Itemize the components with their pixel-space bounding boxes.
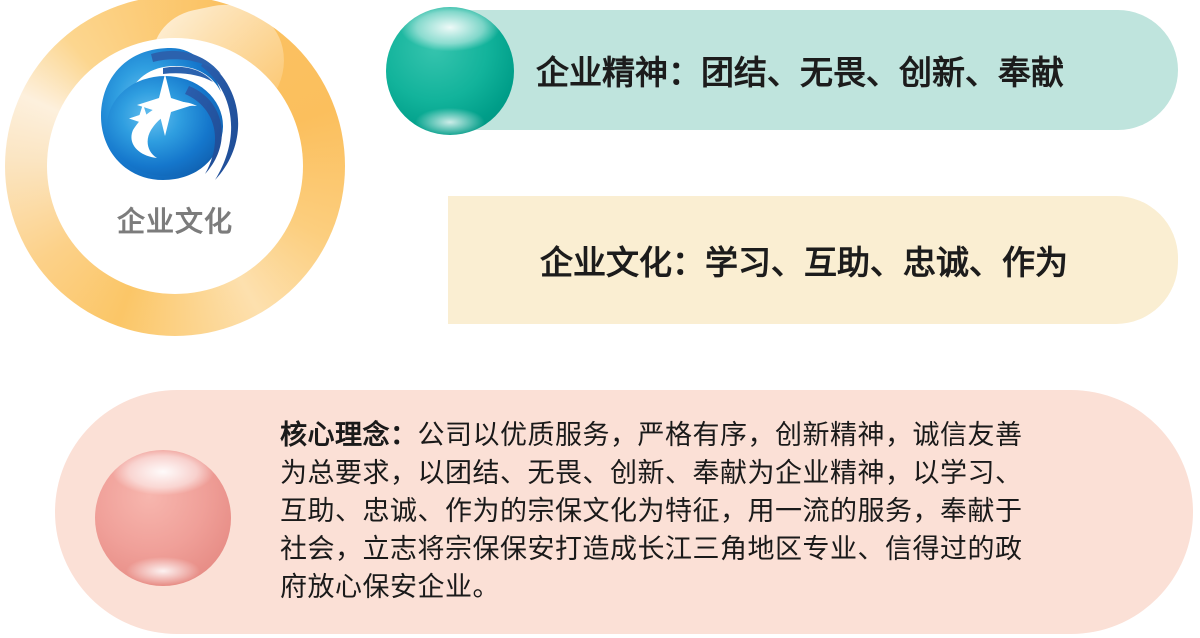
core-line: 互助、忠诚、作为的宗保文化为特征，用一流的服务，奉献于	[280, 493, 1135, 531]
core-line: 社会，立志将宗保保安打造成长江三角地区专业、信得过的政	[280, 531, 1135, 569]
pink-sphere-icon	[95, 450, 231, 586]
company-logo-icon	[93, 34, 257, 202]
banner-text: 企业精神：团结、无畏、创新、奉献	[536, 46, 1064, 94]
core-philosophy-text: 核心理念：公司以优质服务，严格有序，创新精神，诚信友善 为总要求，以团结、无畏、…	[280, 417, 1135, 607]
orange-sphere-icon	[386, 193, 520, 327]
core-line-text: 公司以优质服务，严格有序，创新精神，诚信友善	[418, 420, 1023, 451]
banner-corporate-culture[interactable]: 企业文化：学习、互助、忠诚、作为	[388, 196, 1178, 324]
teal-sphere-icon	[386, 7, 514, 135]
banner-lead: 企业文化：	[540, 243, 705, 282]
core-line: 核心理念：公司以优质服务，严格有序，创新精神，诚信友善	[280, 417, 1135, 455]
banner-value: 团结、无畏、创新、奉献	[701, 53, 1064, 92]
emblem-content: 企业文化	[65, 34, 285, 264]
panel-core-philosophy: 核心理念：公司以优质服务，严格有序，创新精神，诚信友善 为总要求，以团结、无畏、…	[55, 390, 1193, 634]
core-line: 为总要求，以团结、无畏、创新、奉献为企业精神，以学习、	[280, 455, 1135, 493]
core-line: 府放心保安企业。	[280, 569, 1135, 607]
emblem-label: 企业文化	[65, 200, 285, 240]
core-lead: 核心理念：	[280, 420, 418, 451]
banner-corporate-spirit[interactable]: 企业精神：团结、无畏、创新、奉献	[388, 10, 1178, 130]
banner-text: 企业文化：学习、互助、忠诚、作为	[540, 236, 1068, 284]
banner-value: 学习、互助、忠诚、作为	[705, 243, 1068, 282]
culture-emblem: 企业文化	[5, 0, 345, 336]
banner-lead: 企业精神：	[536, 53, 701, 92]
culture-infographic: 企业文化 企业精神：团结、无畏、创新、奉献 企业文化：学习、互助、忠诚、作为 核…	[0, 0, 1200, 638]
